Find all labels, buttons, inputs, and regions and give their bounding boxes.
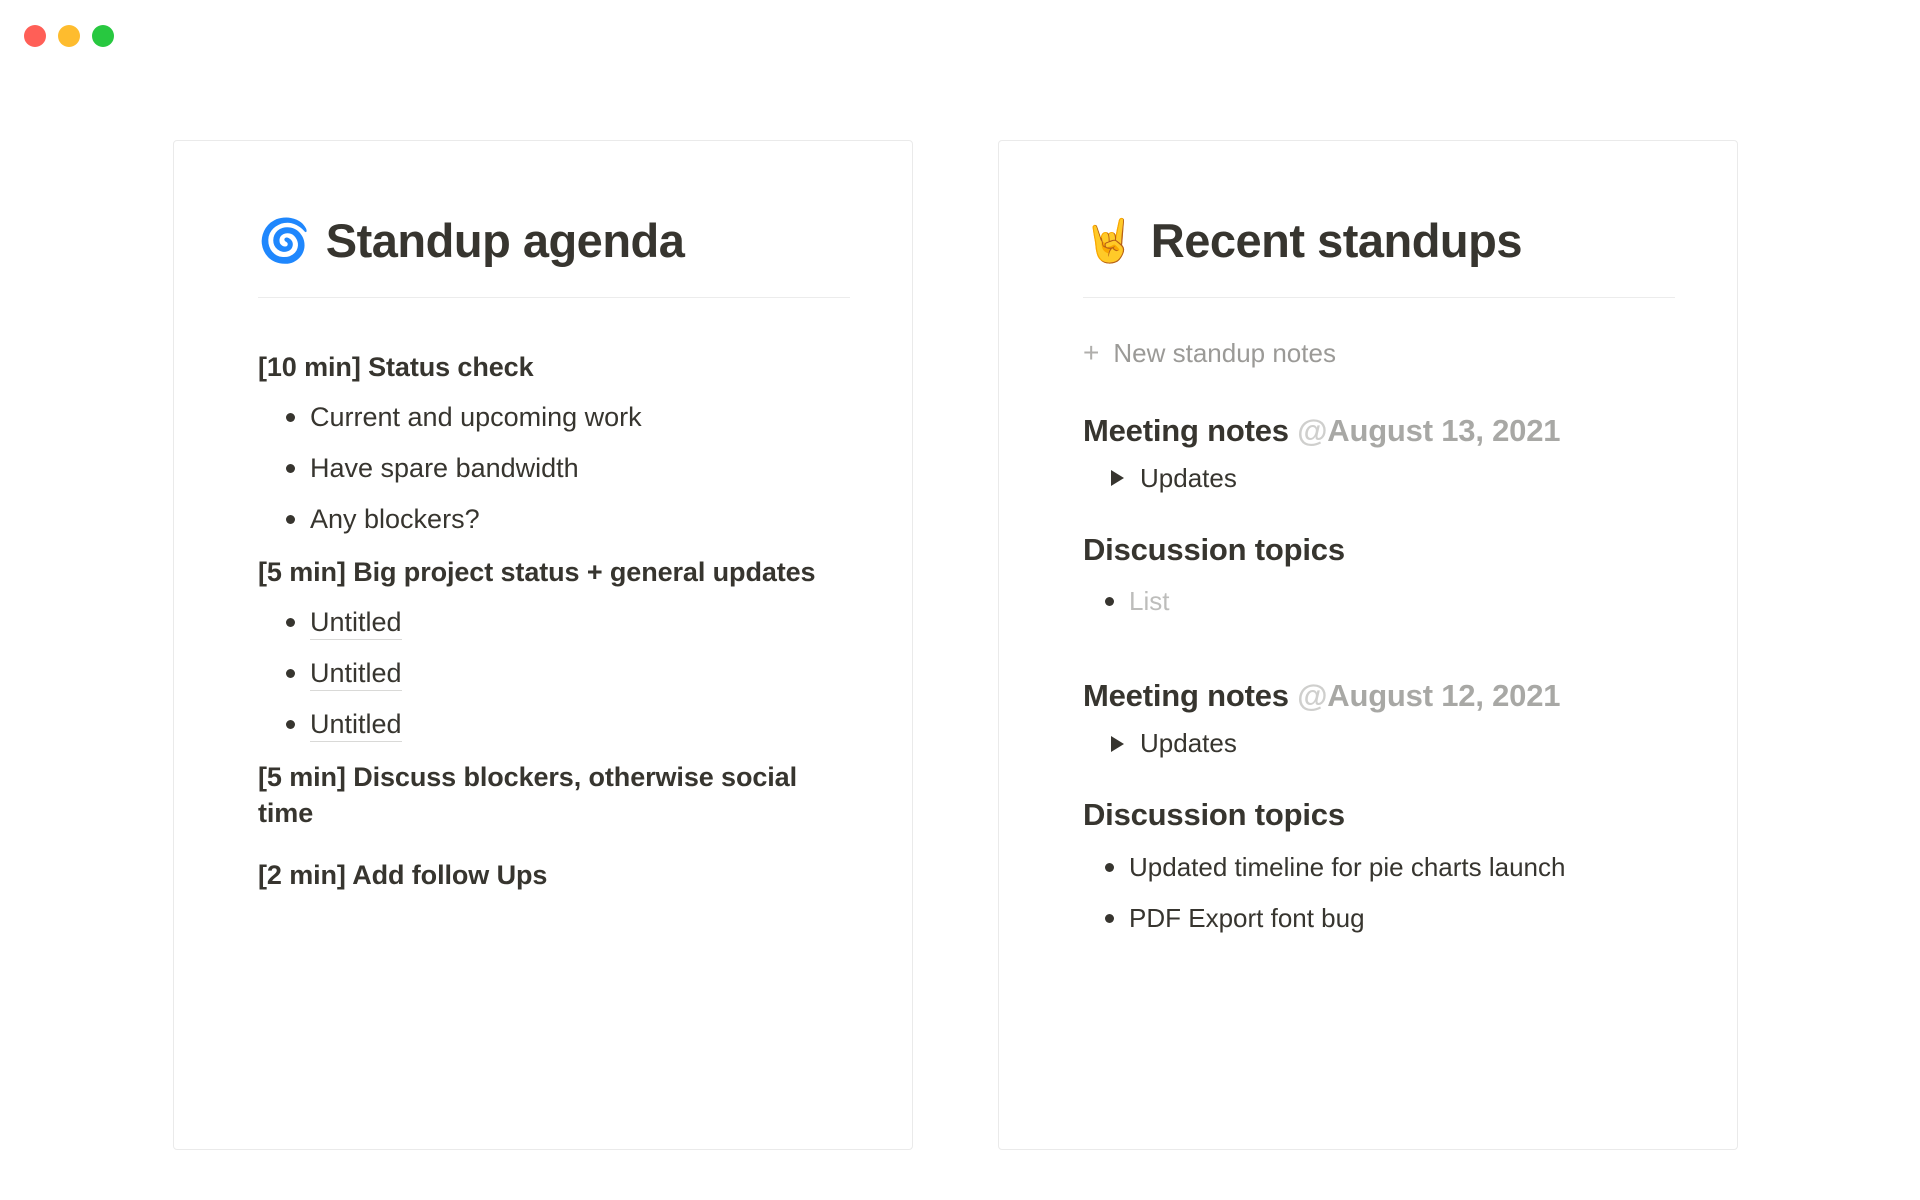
- page-link[interactable]: Untitled: [310, 709, 402, 742]
- horns-hand-icon: 🤘: [1083, 220, 1135, 262]
- agenda-block: [10 min] Status check Current and upcomi…: [258, 350, 850, 545]
- note-date-mention[interactable]: August 13, 2021: [1327, 413, 1560, 448]
- traffic-lights: [24, 25, 114, 47]
- agenda-header: 🌀 Standup agenda: [174, 215, 912, 297]
- mention-at-symbol: @: [1297, 678, 1327, 713]
- note-date-mention[interactable]: August 12, 2021: [1327, 678, 1560, 713]
- agenda-title-text: Standup agenda: [326, 215, 685, 267]
- agenda-heading: [5 min] Discuss blockers, otherwise soci…: [258, 760, 850, 832]
- spacer: [1083, 628, 1675, 662]
- window-titlebar: [0, 0, 1920, 72]
- agenda-heading: [2 min] Add follow Ups: [258, 858, 850, 894]
- list-item: Current and upcoming work: [258, 392, 850, 443]
- spacer: [258, 838, 850, 858]
- list-item: Untitled: [258, 648, 850, 699]
- mention-at-symbol: @: [1297, 413, 1327, 448]
- toggle-label: Updates: [1140, 463, 1237, 494]
- agenda-heading: [5 min] Big project status + general upd…: [258, 555, 850, 591]
- new-standup-notes-label: New standup notes: [1113, 338, 1336, 369]
- list-item: Have spare bandwidth: [258, 443, 850, 494]
- list-item: PDF Export font bug: [1083, 893, 1675, 945]
- toggle-updates[interactable]: Updates: [1083, 451, 1675, 504]
- list-item: Any blockers?: [258, 494, 850, 545]
- toggle-updates[interactable]: Updates: [1083, 716, 1675, 769]
- agenda-block: [2 min] Add follow Ups: [258, 858, 850, 894]
- agenda-block: [5 min] Discuss blockers, otherwise soci…: [258, 760, 850, 832]
- standups-header: 🤘 Recent standups: [999, 215, 1737, 297]
- list-item: Untitled: [258, 699, 850, 750]
- chevron-right-icon[interactable]: [1111, 736, 1124, 752]
- discussion-topic-list: List: [1083, 576, 1675, 628]
- note-title-text: Meeting notes: [1083, 678, 1289, 713]
- section-heading: Discussion topics: [1083, 795, 1675, 835]
- close-window-icon[interactable]: [24, 25, 46, 47]
- list-item-label: Updated timeline for pie charts launch: [1129, 852, 1565, 882]
- minimize-window-icon[interactable]: [58, 25, 80, 47]
- list-item-label: Any blockers?: [310, 504, 480, 534]
- agenda-heading: [10 min] Status check: [258, 350, 850, 386]
- agenda-block: [5 min] Big project status + general upd…: [258, 555, 850, 750]
- standup-agenda-card: 🌀 Standup agenda [10 min] Status check C…: [173, 140, 913, 1150]
- list-item-label: PDF Export font bug: [1129, 903, 1365, 933]
- recent-standups-card: 🤘 Recent standups + New standup notes Me…: [998, 140, 1738, 1150]
- spiral-icon: 🌀: [258, 220, 310, 262]
- section-heading: Discussion topics: [1083, 530, 1675, 570]
- list-item-label: List: [1129, 586, 1169, 616]
- chevron-right-icon[interactable]: [1111, 470, 1124, 486]
- note-title-text: Meeting notes: [1083, 413, 1289, 448]
- workspace: 🌀 Standup agenda [10 min] Status check C…: [0, 140, 1920, 1150]
- standups-body: + New standup notes Meeting notes @Augus…: [999, 298, 1737, 946]
- standups-title-text: Recent standups: [1151, 215, 1522, 267]
- page-link[interactable]: Untitled: [310, 607, 402, 640]
- page-title: 🤘 Recent standups: [1083, 215, 1675, 297]
- note-title: Meeting notes @August 12, 2021: [1083, 676, 1675, 716]
- standup-note-entry: Meeting notes @August 13, 2021 Updates D…: [1083, 411, 1675, 628]
- list-item: Updated timeline for pie charts launch: [1083, 842, 1675, 894]
- list-item: Untitled: [258, 597, 850, 648]
- list-item-label: Have spare bandwidth: [310, 453, 579, 483]
- plus-icon: +: [1083, 339, 1099, 367]
- agenda-body: [10 min] Status check Current and upcomi…: [174, 298, 912, 894]
- maximize-window-icon[interactable]: [92, 25, 114, 47]
- list-item-label: Current and upcoming work: [310, 402, 642, 432]
- page-link[interactable]: Untitled: [310, 658, 402, 691]
- standup-note-entry: Meeting notes @August 12, 2021 Updates D…: [1083, 676, 1675, 945]
- agenda-bullet-list: Current and upcoming work Have spare ban…: [258, 392, 850, 545]
- agenda-page-link-list: Untitled Untitled Untitled: [258, 597, 850, 750]
- list-item[interactable]: List: [1083, 576, 1675, 628]
- note-title: Meeting notes @August 13, 2021: [1083, 411, 1675, 451]
- toggle-label: Updates: [1140, 728, 1237, 759]
- new-standup-notes-button[interactable]: + New standup notes: [1083, 332, 1675, 397]
- discussion-topic-list: Updated timeline for pie charts launch P…: [1083, 842, 1675, 946]
- page-title: 🌀 Standup agenda: [258, 215, 850, 297]
